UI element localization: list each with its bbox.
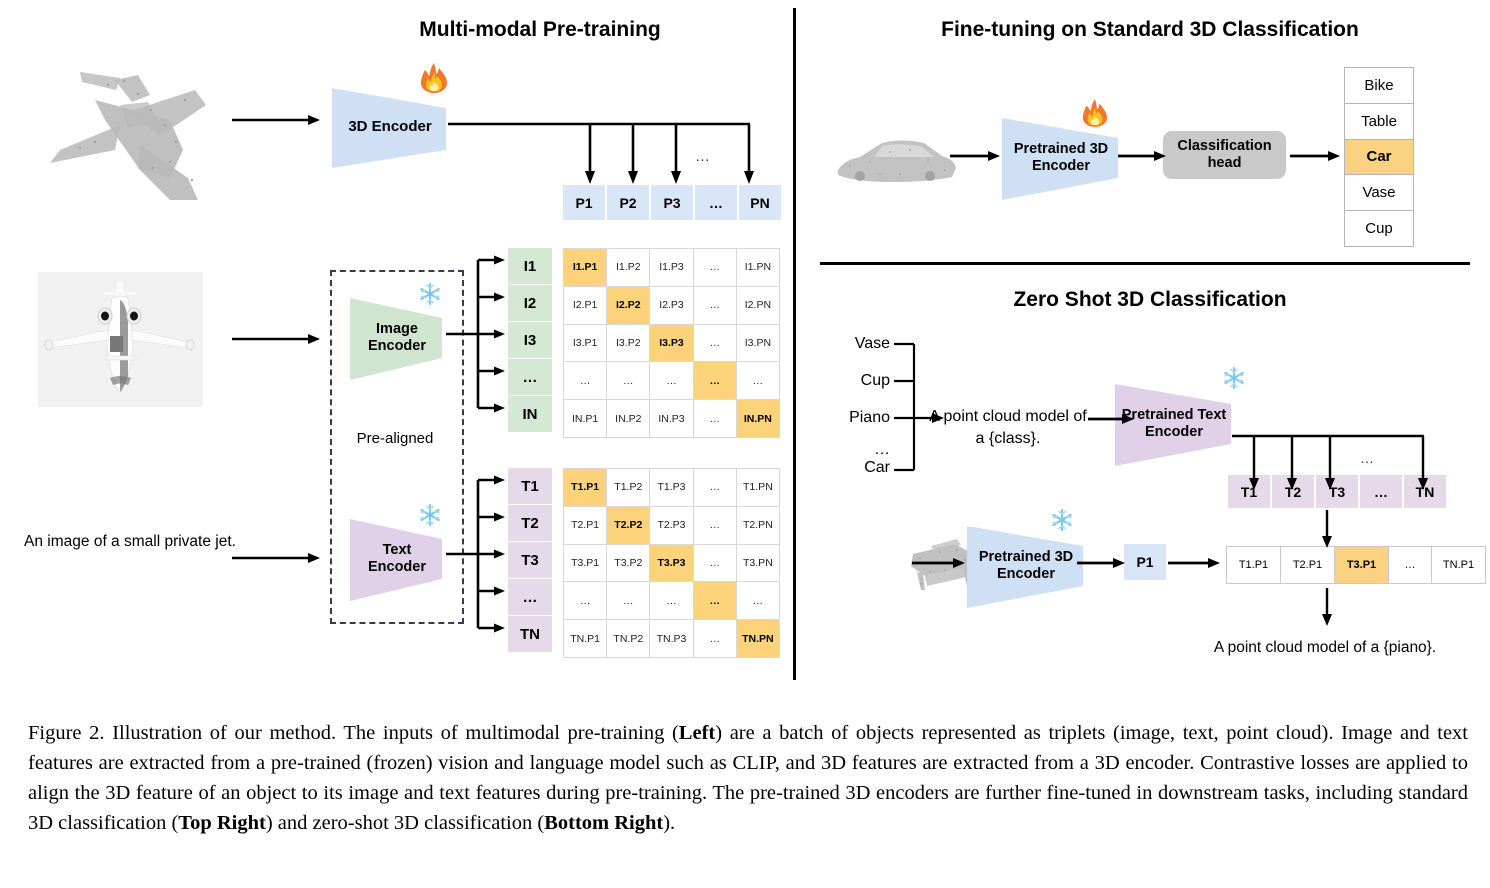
text-matrix-cell-r2-c3: T2.P3	[650, 507, 692, 544]
fanout-text-to-text-tokens	[446, 470, 508, 638]
horizontal-divider	[820, 262, 1470, 265]
arrow-image-to-image-encoder	[232, 332, 322, 346]
image-point-similarity-matrix: I1.P1I1.P2I1.P3…I1.PNI2.P1I2.P2I2.P3…I2.…	[563, 248, 780, 438]
zeroshot-class-car: Car	[828, 459, 890, 477]
image-matrix-cell-r1-c1: I1.P1	[564, 249, 606, 286]
zeroshot-text-encoder-label-line2: Encoder	[1145, 424, 1203, 440]
snowflake-icon	[418, 503, 442, 527]
arrow-tokens-to-similarity	[1320, 510, 1334, 550]
image-matrix-cell-r2-c2: I2.P2	[607, 287, 649, 324]
rendered-jet-image	[38, 272, 203, 407]
text-input-caption: An image of a small private jet.	[20, 532, 240, 553]
text-matrix-cell-r1-c3: T1.P3	[650, 469, 692, 506]
fire-icon	[420, 62, 448, 94]
image-matrix-cell-r5-c2: IN.P2	[607, 400, 649, 437]
zeroshot-result: A point cloud model of a {piano}.	[1180, 638, 1470, 659]
arrow-piano-to-3d-encoder	[912, 556, 967, 570]
image-matrix-cell-r5-c4: …	[694, 400, 736, 437]
image-matrix-cell-r3-c1: I3.P1	[564, 325, 606, 362]
zeroshot-3d-encoder-label-line1: Pretrained 3D	[979, 549, 1073, 565]
arrow-pointcloud-to-3d-encoder	[232, 113, 322, 127]
vertical-divider	[793, 8, 796, 680]
arrow-car-to-pretrained-encoder	[950, 149, 1002, 163]
image-matrix-cell-r4-c5: …	[737, 362, 779, 399]
zeroshot-class-vase: Vase	[828, 335, 890, 353]
image-matrix-cell-r3-c5: I3.PN	[737, 325, 779, 362]
arrow-prompt-to-text-encoder	[1088, 412, 1136, 426]
point-token-pn[interactable]: PN	[739, 185, 781, 220]
fanout-image-to-image-tokens	[446, 250, 508, 418]
image-token-i1[interactable]: I1	[508, 248, 552, 284]
text-matrix-cell-r2-c2: T2.P2	[607, 507, 649, 544]
arrow-3d-encoder-to-p1	[1077, 556, 1127, 570]
image-matrix-cell-r5-c3: IN.P3	[650, 400, 692, 437]
image-matrix-cell-r4-c4: …	[694, 362, 736, 399]
point-token-ellipsis: …	[695, 185, 737, 220]
text-matrix-cell-r5-c5: TN.PN	[737, 620, 779, 657]
text-encoder-label-line1: Text	[383, 542, 412, 558]
similarity-cell-t2p1: T2.P1	[1281, 547, 1334, 583]
text-matrix-cell-r4-c3: …	[650, 582, 692, 619]
image-matrix-cell-r5-c1: IN.P1	[564, 400, 606, 437]
point-token-row: P1 P2 P3 … PN	[563, 185, 781, 220]
text-matrix-cell-r1-c5: T1.PN	[737, 469, 779, 506]
pretraining-title: Multi-modal Pre-training	[280, 18, 800, 42]
image-matrix-cell-r3-c4: …	[694, 325, 736, 362]
text-token-ellipsis: …	[508, 579, 552, 615]
arrow-encoder-to-classification-head	[1118, 149, 1168, 163]
pointcloud-car-image	[830, 130, 960, 190]
fire-icon	[1082, 98, 1108, 128]
classification-head-label-line1: Classification	[1177, 138, 1271, 154]
image-token-ellipsis: …	[508, 359, 552, 395]
text-matrix-cell-r4-c2: …	[607, 582, 649, 619]
text-matrix-cell-r4-c5: …	[737, 582, 779, 619]
image-matrix-cell-r5-c5: IN.PN	[737, 400, 779, 437]
similarity-cell-t3p1: T3.P1	[1335, 547, 1388, 583]
text-matrix-cell-r2-c5: T2.PN	[737, 507, 779, 544]
zeroshot-3d-encoder-label-line2: Encoder	[997, 566, 1055, 582]
point-token-p2[interactable]: P2	[607, 185, 649, 220]
finetune-title: Fine-tuning on Standard 3D Classificatio…	[830, 18, 1470, 42]
text-token-tn[interactable]: TN	[508, 616, 552, 652]
image-matrix-cell-r1-c5: I1.PN	[737, 249, 779, 286]
arrow-text-to-text-encoder	[232, 551, 322, 565]
text-point-similarity-matrix: T1.P1T1.P2T1.P3…T1.PNT2.P1T2.P2T2.P3…T2.…	[563, 468, 780, 658]
fanout-3d-to-point-tokens	[448, 118, 758, 188]
image-matrix-cell-r3-c3: I3.P3	[650, 325, 692, 362]
similarity-cell-tnp1: TN.P1	[1432, 547, 1485, 583]
zeroshot-class-cup: Cup	[828, 372, 890, 390]
figure-caption: Figure 2. Illustration of our method. Th…	[28, 718, 1468, 839]
image-matrix-cell-r1-c2: I1.P2	[607, 249, 649, 286]
text-matrix-cell-r1-c4: …	[694, 469, 736, 506]
text-matrix-cell-r4-c1: …	[564, 582, 606, 619]
zeroshot-class-piano: Piano	[815, 409, 890, 427]
image-matrix-cell-r4-c2: …	[607, 362, 649, 399]
class-gather-bracket	[892, 336, 1002, 478]
three-d-encoder[interactable]: 3D Encoder	[330, 82, 450, 172]
prealigned-label: Pre-aligned	[330, 430, 460, 447]
image-token-i2[interactable]: I2	[508, 285, 552, 321]
class-item-cup[interactable]: Cup	[1345, 211, 1413, 246]
image-matrix-cell-r1-c3: I1.P3	[650, 249, 692, 286]
similarity-cell-ellipsis: …	[1389, 547, 1431, 583]
snowflake-icon	[1050, 508, 1074, 532]
image-token-i3[interactable]: I3	[508, 322, 552, 358]
text-matrix-cell-r3-c5: T3.PN	[737, 545, 779, 582]
class-item-vase[interactable]: Vase	[1345, 175, 1413, 211]
arrow-similarity-to-result	[1320, 588, 1334, 628]
text-matrix-cell-r2-c4: …	[694, 507, 736, 544]
text-token-t3[interactable]: T3	[508, 542, 552, 578]
similarity-cell-t1p1: T1.P1	[1227, 547, 1280, 583]
text-token-t2[interactable]: T2	[508, 505, 552, 541]
text-matrix-cell-r3-c1: T3.P1	[564, 545, 606, 582]
image-matrix-cell-r2-c5: I2.PN	[737, 287, 779, 324]
image-token-column: I1 I2 I3 … IN	[508, 248, 552, 432]
text-matrix-cell-r3-c4: …	[694, 545, 736, 582]
zeroshot-similarity-row: T1.P1 T2.P1 T3.P1 … TN.P1	[1226, 546, 1486, 584]
image-matrix-cell-r3-c2: I3.P2	[607, 325, 649, 362]
text-matrix-cell-r4-c4: …	[694, 582, 736, 619]
image-matrix-cell-r2-c1: I2.P1	[564, 287, 606, 324]
finetune-encoder-label-line2: Encoder	[1032, 158, 1090, 174]
text-matrix-cell-r1-c2: T1.P2	[607, 469, 649, 506]
text-token-column: T1 T2 T3 … TN	[508, 468, 552, 652]
image-token-in[interactable]: IN	[508, 396, 552, 432]
three-d-encoder-label: 3D Encoder	[348, 118, 431, 135]
point-token-p1[interactable]: P1	[563, 185, 605, 220]
zeroshot-point-token-p1[interactable]: P1	[1124, 544, 1166, 580]
class-item-table[interactable]: Table	[1345, 104, 1413, 140]
text-matrix-cell-r2-c1: T2.P1	[564, 507, 606, 544]
finetune-class-list: Bike Table Car Vase Cup	[1344, 67, 1414, 247]
zeroshot-class-ellipsis: …	[828, 441, 890, 459]
snowflake-icon	[1222, 366, 1246, 390]
text-matrix-cell-r5-c1: TN.P1	[564, 620, 606, 657]
class-item-bike[interactable]: Bike	[1345, 68, 1413, 104]
classification-head[interactable]: Classification head	[1163, 131, 1286, 179]
class-item-car[interactable]: Car	[1345, 140, 1413, 176]
image-matrix-cell-r2-c3: I2.P3	[650, 287, 692, 324]
image-encoder-label-line2: Encoder	[368, 338, 426, 354]
text-matrix-cell-r3-c2: T3.P2	[607, 545, 649, 582]
zeroshot-title: Zero Shot 3D Classification	[830, 288, 1470, 312]
text-matrix-cell-r3-c3: T3.P3	[650, 545, 692, 582]
image-matrix-cell-r4-c1: …	[564, 362, 606, 399]
text-matrix-cell-r5-c3: TN.P3	[650, 620, 692, 657]
snowflake-icon	[418, 282, 442, 306]
text-matrix-cell-r1-c1: T1.P1	[564, 469, 606, 506]
text-matrix-cell-r5-c2: TN.P2	[607, 620, 649, 657]
text-matrix-cell-r5-c4: …	[694, 620, 736, 657]
image-encoder-label-line1: Image	[376, 321, 418, 337]
image-matrix-cell-r4-c3: …	[650, 362, 692, 399]
text-encoder-label-line2: Encoder	[368, 559, 426, 575]
arrow-head-to-class-list	[1290, 149, 1342, 163]
image-matrix-cell-r1-c4: …	[694, 249, 736, 286]
fanout-text-encoder-to-tokens	[1232, 432, 1432, 494]
zeroshot-pretrained-3d-encoder[interactable]: Pretrained 3D Encoder	[965, 520, 1087, 612]
finetune-encoder-label-line1: Pretrained 3D	[1014, 141, 1108, 157]
text-token-t1[interactable]: T1	[508, 468, 552, 504]
arrow-p1-to-similarity	[1168, 556, 1222, 570]
classification-head-label-line2: head	[1208, 155, 1242, 171]
zeroshot-text-encoder-label-line1: Pretrained Text	[1122, 407, 1227, 423]
image-matrix-cell-r2-c4: …	[694, 287, 736, 324]
pointcloud-airplane-image	[20, 50, 250, 220]
point-token-p3[interactable]: P3	[651, 185, 693, 220]
